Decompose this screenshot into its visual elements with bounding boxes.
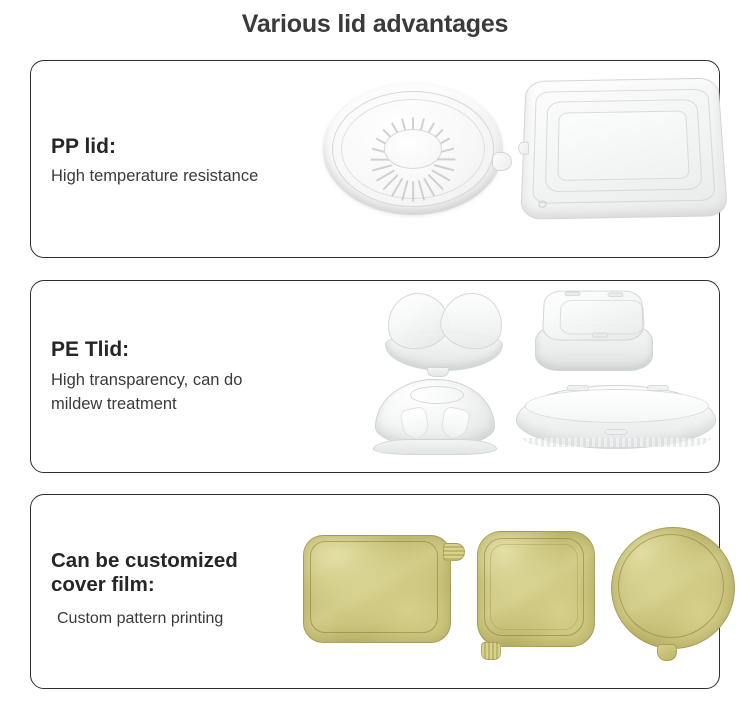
flat-oval-pe-lid-image	[516, 385, 716, 449]
rect-lid-ring-inner	[557, 110, 690, 180]
card-cover-film: Can be customized cover film: Custom pat…	[30, 494, 720, 689]
gold-square-pull-tab	[481, 642, 501, 660]
card-pe-lid-inner: PE Tlid: High transparency, can do milde…	[31, 281, 719, 472]
cover-film-subtext: Custom pattern printing	[51, 607, 238, 631]
pe-lid-subtext: High transparency, can do mildew treatme…	[51, 368, 242, 418]
card-cover-film-inner: Can be customized cover film: Custom pat…	[31, 495, 719, 688]
round-lid-rib	[412, 181, 414, 202]
gold-square-foil-lid-image	[477, 531, 595, 647]
square-lid-inner-panel	[559, 300, 645, 335]
rect-lid-corner-detail	[538, 201, 546, 208]
gold-round-foil-lid-image	[611, 527, 735, 649]
pp-lid-heading: PP lid:	[51, 135, 258, 160]
cover-film-heading: Can be customized cover film:	[51, 549, 238, 597]
pe-lid-product-art	[311, 281, 719, 472]
rect-lid-side-nub	[518, 142, 529, 155]
square-pe-lid-image	[535, 287, 653, 371]
oval-lid-notch	[567, 385, 589, 391]
dome-lid-rim	[373, 439, 497, 455]
gold-rect-pull-tab	[443, 543, 465, 561]
oval-lid-top-panel	[525, 389, 709, 423]
card-pe-lid: PE Tlid: High transparency, can do milde…	[30, 280, 720, 473]
square-lid-notch	[592, 333, 608, 338]
oval-lid-serrated-rim	[523, 438, 711, 447]
gold-circle-inner-edge	[618, 534, 724, 638]
gold-rect-inner-edge	[310, 541, 438, 633]
pp-lid-subtext: High temperature resistance	[51, 164, 258, 189]
oval-lid-notch	[605, 429, 627, 435]
heart-shaped-pe-lid-image	[381, 289, 509, 373]
heart-lid-tab	[427, 367, 449, 377]
oval-lid-body	[516, 385, 716, 449]
gold-circle-pull-tab	[657, 644, 677, 661]
round-lid-pull-tab	[492, 152, 512, 171]
rectangular-pp-lid-image	[522, 73, 724, 218]
gold-square-inner-edge-2	[490, 544, 578, 630]
oval-lid-notch	[647, 385, 669, 391]
cover-film-text-block: Can be customized cover film: Custom pat…	[51, 549, 238, 631]
pp-lid-text-block: PP lid: High temperature resistance	[51, 135, 258, 188]
rect-lid-body	[520, 78, 728, 220]
square-lid-top	[542, 291, 644, 341]
round-lid-center-panel	[384, 129, 442, 169]
page-title: Various lid advantages	[0, 10, 750, 39]
card-pp-lid: PP lid: High temperature resistance	[30, 60, 720, 258]
dome-lid-top-circle	[410, 386, 464, 404]
square-lid-notch	[608, 292, 624, 297]
dome-lid-cap	[375, 379, 495, 447]
heart-lid-dome	[387, 289, 501, 341]
cover-film-product-art	[311, 495, 719, 688]
dome-lid-facet	[399, 406, 431, 441]
dome-lid-facet	[439, 406, 471, 441]
square-lid-notch	[565, 292, 581, 297]
infographic-page: Various lid advantages PP lid: High temp…	[0, 0, 750, 713]
dome-cup-pe-lid-image	[373, 379, 497, 455]
pp-lid-product-art	[311, 61, 719, 257]
pe-lid-text-block: PE Tlid: High transparency, can do milde…	[51, 338, 242, 417]
gold-rectangular-foil-lid-image	[303, 535, 451, 643]
round-ribbed-pp-lid-image	[323, 83, 503, 215]
pe-lid-heading: PE Tlid:	[51, 338, 242, 363]
card-pp-lid-inner: PP lid: High temperature resistance	[31, 61, 719, 257]
